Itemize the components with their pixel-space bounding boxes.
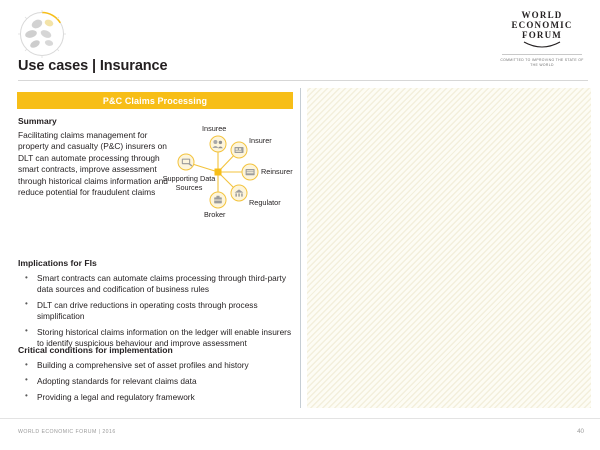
slide: WORLD ECONOMIC FORUM COMMITTED TO IMPROV… [0,0,600,450]
wef-logo-divider [502,54,582,55]
node-label-reinsurer: Reinsurer [261,167,293,176]
conditions-heading: Critical conditions for implementation [18,345,296,355]
title-divider [18,80,588,81]
implications-list: Smart contracts can automate claims proc… [18,273,296,348]
circular-pattern-logo [16,8,68,60]
conditions-section: Critical conditions for implementation B… [18,345,296,408]
section-banner: P&C Claims Processing [17,92,293,109]
node-label-broker: Broker [204,210,226,219]
wef-logo-line3: FORUM [496,30,588,40]
network-diagram: Insuree Insurer Reinsurer Regulator Brok… [160,122,300,222]
implications-heading: Implications for FIs [18,258,296,268]
list-item: Adopting standards for relevant claims d… [18,376,296,387]
list-item: DLT can drive reductions in operating co… [18,300,296,322]
node-insurer [231,142,247,158]
page-number: 40 [577,428,584,435]
section-banner-label: P&C Claims Processing [103,96,207,106]
list-item: Building a comprehensive set of asset pr… [18,360,296,371]
conditions-list: Building a comprehensive set of asset pr… [18,360,296,403]
node-label-insurer: Insurer [249,136,272,145]
page-title: Use cases | Insurance [18,58,167,74]
node-broker [210,192,226,208]
wef-tagline: COMMITTED TO IMPROVING THE STATE OF THE … [496,58,588,67]
list-item: Smart contracts can automate claims proc… [18,273,296,295]
footer-text: WORLD ECONOMIC FORUM | 2016 [18,429,116,435]
list-item: Providing a legal and regulatory framewo… [18,392,296,403]
node-insuree [210,136,226,152]
node-reinsurer [242,164,258,180]
summary-body: Facilitating claims management for prope… [18,130,168,198]
footer-divider [0,418,600,419]
wef-logo: WORLD ECONOMIC FORUM COMMITTED TO IMPROV… [496,10,588,67]
node-supporting-data-sources [178,154,194,170]
image-placeholder-panel [307,88,591,408]
implications-section: Implications for FIs Smart contracts can… [18,258,296,353]
node-label-supporting-data-sources: Supporting Data Sources [160,174,218,192]
column-divider [300,88,301,408]
wef-logo-line1: WORLD [496,10,588,20]
wef-logo-line2: ECONOMIC [496,20,588,30]
node-label-regulator: Regulator [249,198,281,207]
node-regulator [231,185,247,201]
node-label-insuree: Insuree [202,124,226,133]
wef-arc-icon [522,41,562,50]
